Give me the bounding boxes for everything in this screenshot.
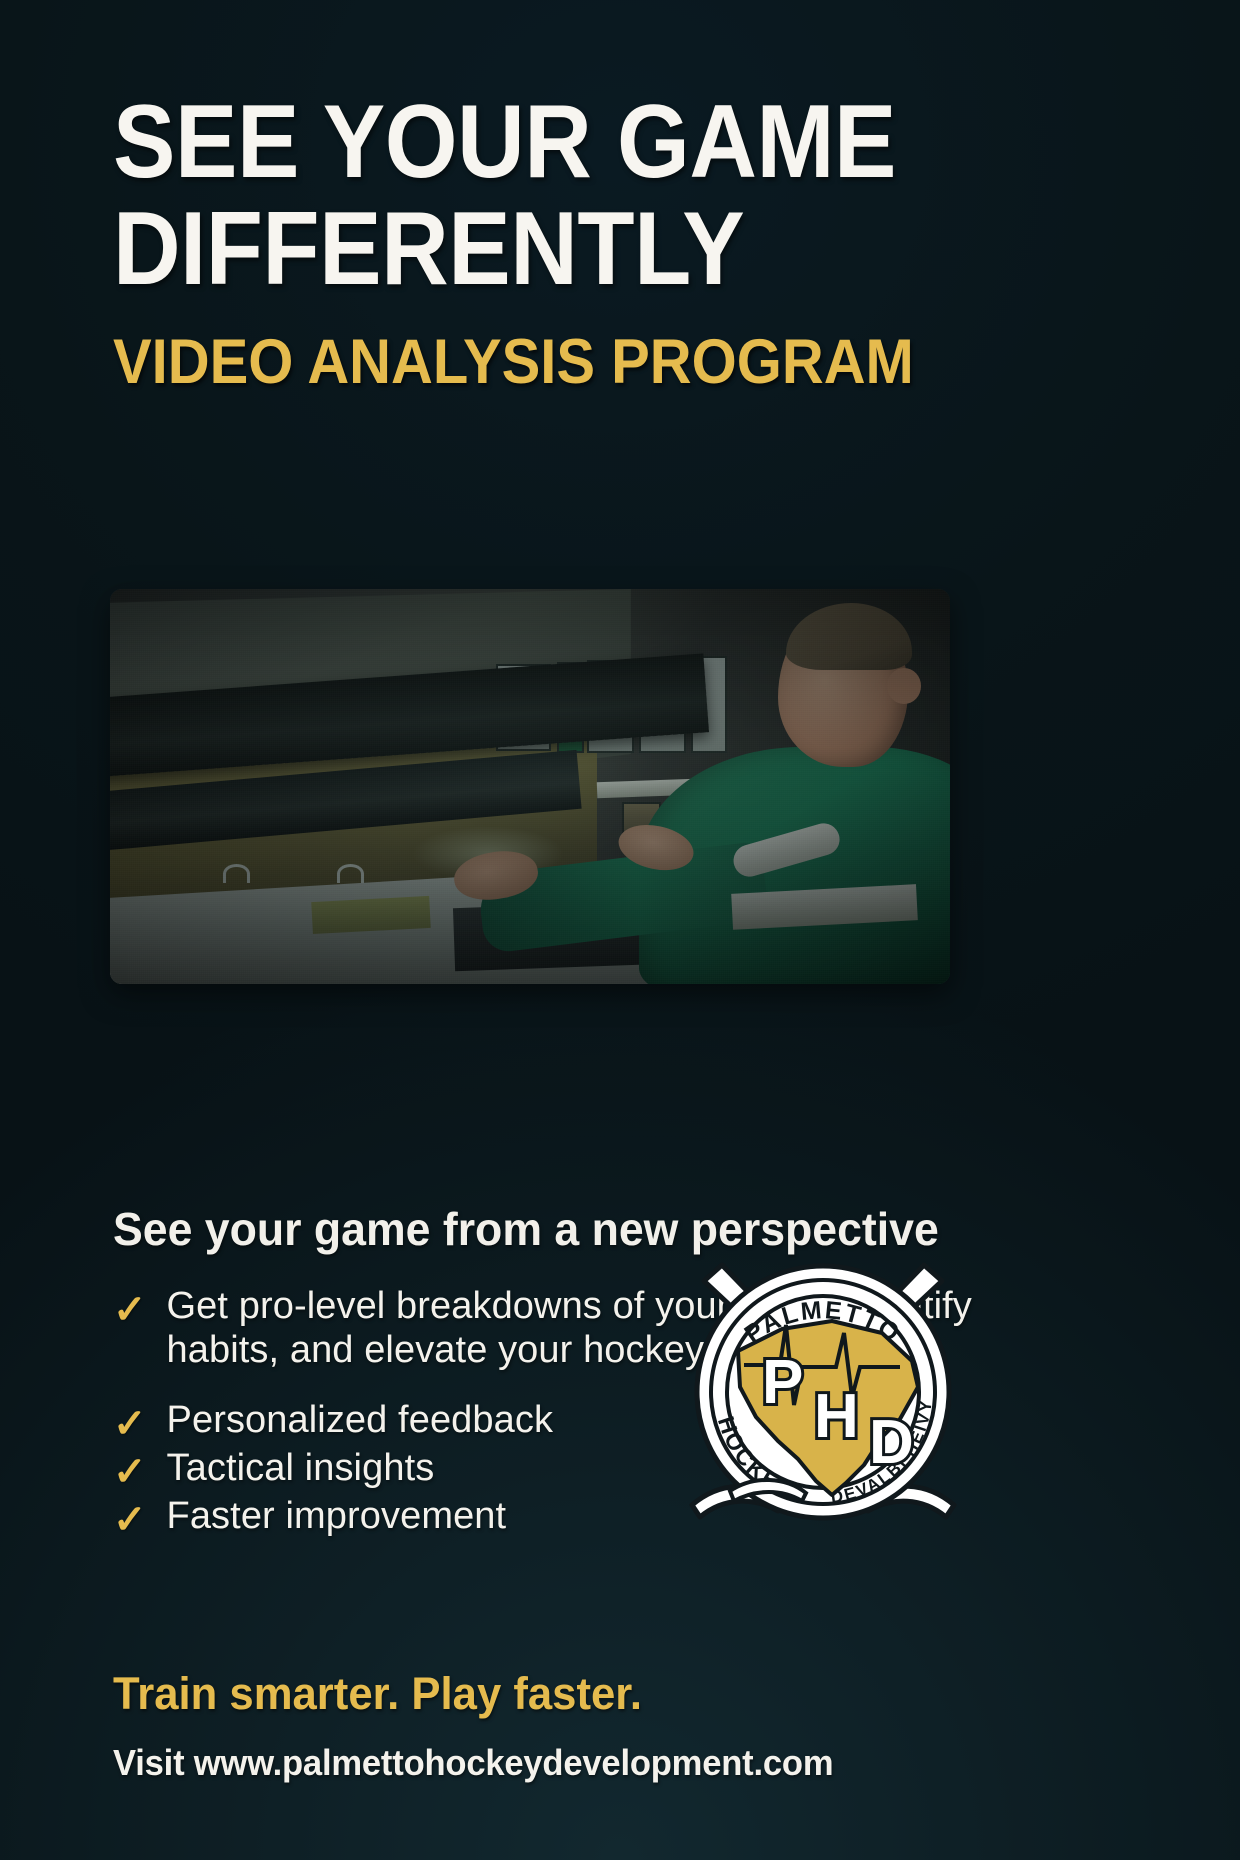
headline-line-1: SEE YOUR GAME (113, 93, 1031, 192)
section-subhead: See your game from a new perspective (113, 1202, 939, 1256)
tagline: Train smarter. Play faster. (113, 1668, 642, 1720)
list-item-label: Faster improvement (167, 1494, 507, 1538)
list-item-label: Personalized feedback (167, 1398, 554, 1442)
hero-photo (110, 589, 950, 984)
website-line[interactable]: Visit www.palmettohockeydevelopment.com (113, 1742, 833, 1784)
check-icon: ✓ (113, 1500, 147, 1540)
list-item-label: Tactical insights (167, 1446, 435, 1490)
monogram-letter-p: P (762, 1348, 803, 1417)
check-icon: ✓ (113, 1404, 147, 1444)
headline-block: SEE YOUR GAME DIFFERENTLY VIDEO ANALYSIS… (113, 93, 1133, 394)
program-title: VIDEO ANALYSIS PROGRAM (113, 331, 1051, 394)
headline-line-2: DIFFERENTLY (113, 200, 1031, 299)
monogram-letter-h: H (814, 1382, 859, 1451)
palmetto-hockey-logo: PALMETTO HOCKEY DEVALBPHEIVY (686, 1255, 960, 1529)
monogram-letter-d: D (869, 1408, 914, 1477)
check-icon: ✓ (113, 1452, 147, 1492)
check-icon: ✓ (113, 1290, 147, 1330)
poster-canvas: SEE YOUR GAME DIFFERENTLY VIDEO ANALYSIS… (0, 0, 1240, 1860)
